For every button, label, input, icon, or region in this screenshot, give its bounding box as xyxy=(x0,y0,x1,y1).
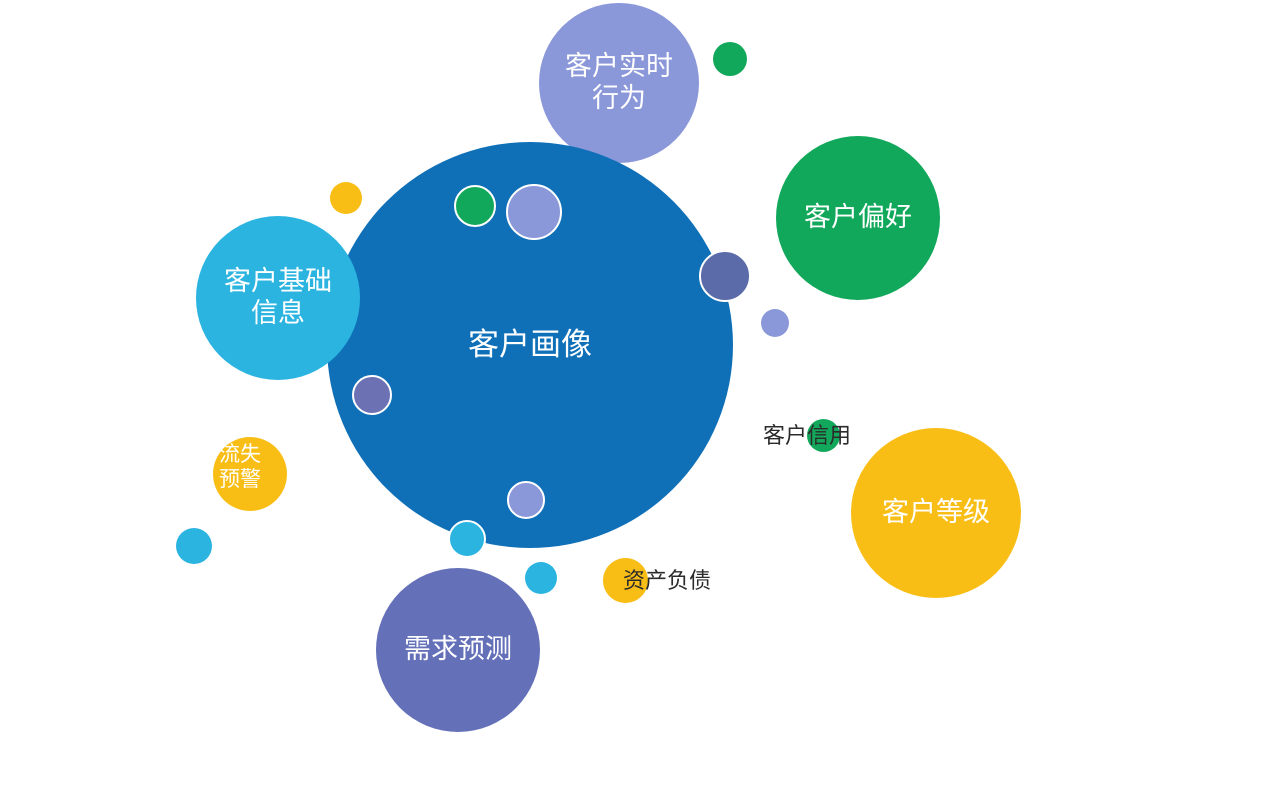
bubble-preference-label: 客户偏好 xyxy=(799,202,917,234)
dot-light-purple-right-icon xyxy=(761,309,789,337)
bubble-assets-liabilities-label: 资产负债 xyxy=(607,563,727,595)
bubble-churn-warning-label: 流失预警 xyxy=(219,443,281,493)
bubble-demand-forecast[interactable]: 需求预测 xyxy=(376,568,540,732)
dot-light-purple-inner-icon xyxy=(506,184,562,240)
bubble-customer-profile-label: 客户画像 xyxy=(347,327,712,364)
bubble-customer-credit-label: 客户信用 xyxy=(749,418,865,450)
bubble-basic-info-label: 客户基础信息 xyxy=(219,266,337,330)
dot-cyan-bottom-left-icon xyxy=(176,528,212,564)
bubble-realtime-behavior[interactable]: 客户实时行为 xyxy=(539,3,699,163)
dot-green-inner-icon xyxy=(454,185,496,227)
dot-yellow-left-icon xyxy=(330,182,362,214)
bubble-preference[interactable]: 客户偏好 xyxy=(776,136,940,300)
dot-cyan-bottom-mid-icon xyxy=(525,562,557,594)
dot-slate-edge-icon xyxy=(699,250,751,302)
dot-light-purple-bottom-icon xyxy=(507,481,545,519)
dot-purple-inner-left-icon xyxy=(352,375,392,415)
dot-cyan-edge-bottom-icon xyxy=(448,520,486,558)
bubble-customer-level[interactable]: 客户等级 xyxy=(851,428,1021,598)
bubble-basic-info[interactable]: 客户基础信息 xyxy=(196,216,360,380)
bubble-demand-forecast-label: 需求预测 xyxy=(399,634,517,666)
bubble-diagram-canvas: 客户画像 客户实时行为 客户基础信息 客户偏好 客户等级 需求预测 流失预警 客… xyxy=(0,0,1269,786)
bubble-realtime-behavior-label: 客户实时行为 xyxy=(561,51,676,115)
bubble-customer-level-label: 客户等级 xyxy=(875,497,997,529)
dot-green-top-right-icon xyxy=(713,42,747,76)
